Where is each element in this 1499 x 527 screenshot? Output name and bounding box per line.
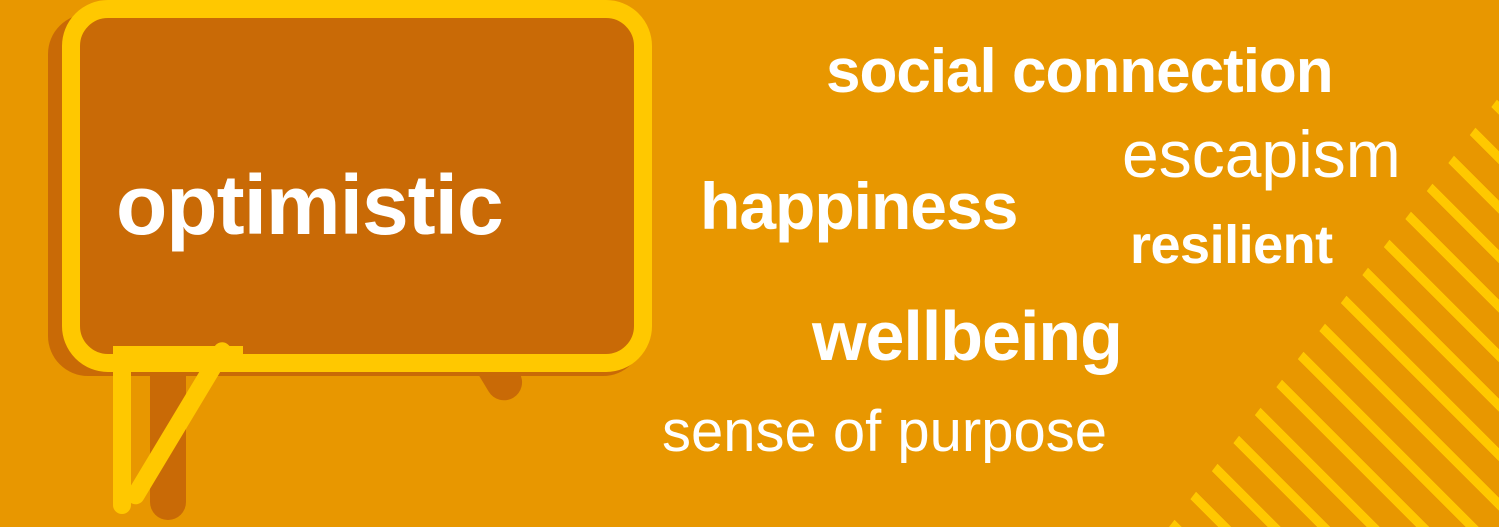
word-wellbeing: wellbeing [812, 296, 1122, 376]
speech-bubble: optimistic [0, 0, 700, 527]
word-social-connection: social connection [826, 36, 1333, 107]
headline-optimistic: optimistic [116, 160, 616, 250]
word-sense-of-purpose: sense of purpose [662, 398, 1107, 465]
word-escapism: escapism [1122, 116, 1401, 192]
word-happiness: happiness [700, 168, 1017, 244]
word-resilient: resilient [1130, 214, 1333, 276]
word-cloud-banner: optimistic social connection escapism ha… [0, 0, 1499, 527]
